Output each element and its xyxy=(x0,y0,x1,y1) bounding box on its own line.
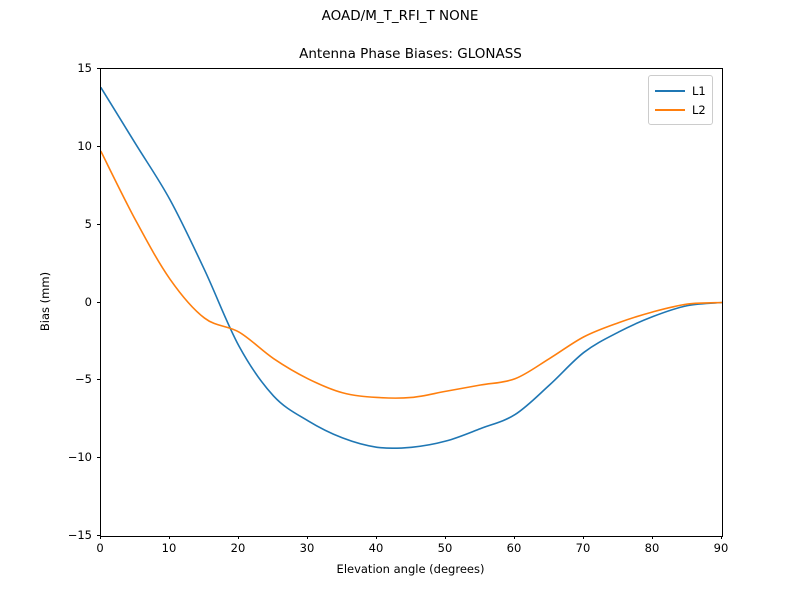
x-tick-label: 50 xyxy=(415,542,475,554)
y-tick-label: 15 xyxy=(32,62,92,74)
x-tick-label: 30 xyxy=(277,542,337,554)
x-tick-label: 10 xyxy=(139,542,199,554)
x-tick-label: 90 xyxy=(691,542,751,554)
figure: AOAD/M_T_RFI_T NONE Antenna Phase Biases… xyxy=(0,0,800,600)
y-tick-label: −5 xyxy=(32,373,92,385)
x-tick-label: 20 xyxy=(208,542,268,554)
legend-item-l1[interactable]: L1 xyxy=(655,81,706,100)
legend-swatch-l2 xyxy=(655,109,685,111)
legend-label-l2: L2 xyxy=(692,104,706,116)
y-tick-label: 0 xyxy=(32,296,92,308)
legend-swatch-l1 xyxy=(655,90,685,92)
x-tick-label: 60 xyxy=(484,542,544,554)
x-tick-label: 80 xyxy=(622,542,682,554)
legend-item-l2[interactable]: L2 xyxy=(655,100,706,119)
x-axis-label: Elevation angle (degrees) xyxy=(100,562,721,576)
figure-suptitle: AOAD/M_T_RFI_T NONE xyxy=(0,8,800,24)
line-l1 xyxy=(101,88,722,449)
y-tick-label: 5 xyxy=(32,218,92,230)
x-tick-label: 70 xyxy=(553,542,613,554)
y-tick-label: −15 xyxy=(32,529,92,541)
legend: L1 L2 xyxy=(648,75,713,125)
plot-area xyxy=(100,68,723,537)
x-tick-label: 0 xyxy=(70,542,130,554)
y-tick-label: −10 xyxy=(32,451,92,463)
legend-label-l1: L1 xyxy=(692,85,706,97)
axes-title: Antenna Phase Biases: GLONASS xyxy=(100,46,721,62)
line-l2 xyxy=(101,152,722,399)
data-lines xyxy=(101,69,722,536)
x-tick-label: 40 xyxy=(346,542,406,554)
y-tick-label: 10 xyxy=(32,140,92,152)
